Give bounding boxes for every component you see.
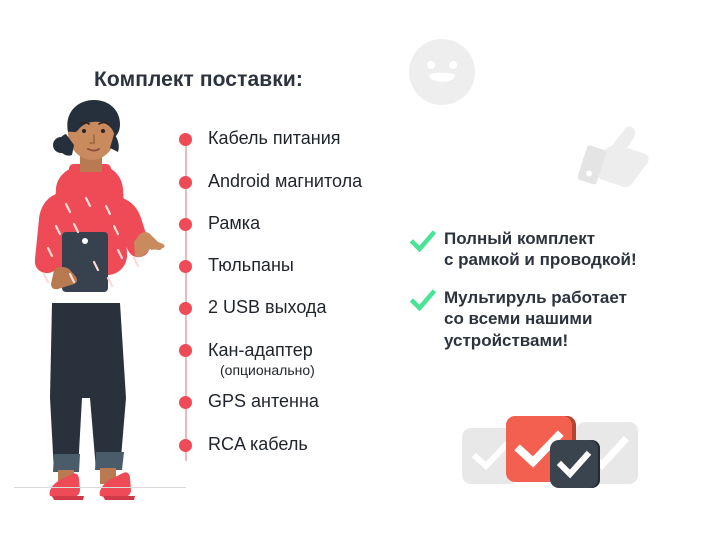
list-item-label: Android магнитола — [208, 171, 362, 192]
bullet-dot-icon — [179, 133, 192, 146]
page-title: Комплект поставки: — [94, 68, 303, 92]
bullet-dot-icon — [179, 260, 192, 273]
checkbox-tiles-icon — [462, 410, 632, 486]
benefit-label: Мультируль работает со всеми нашими устр… — [410, 287, 710, 351]
smiley-face-icon — [408, 38, 476, 106]
benefit-item: Полный комплект с рамкой и проводкой! — [410, 228, 710, 271]
ground-line — [14, 487, 186, 488]
bullet-dot-icon — [179, 439, 192, 452]
avito-watermark: Avito — [620, 500, 712, 530]
list-item-label: Тюльпаны — [208, 255, 294, 276]
woman-illustration — [8, 98, 178, 508]
benefits-block: Полный комплект с рамкой и проводкой! Му… — [410, 228, 710, 367]
list-item-label: Рамка — [208, 213, 260, 234]
checkbox-tile-dark — [550, 440, 598, 488]
benefit-item: Мультируль работает со всеми нашими устр… — [410, 287, 710, 351]
list-item-label: Кабель питания — [208, 128, 341, 149]
list-item-label: RCA кабель — [208, 434, 308, 455]
thumbs-up-icon — [578, 115, 660, 203]
list-item-label: 2 USB выхода — [208, 297, 326, 318]
bullet-dot-icon — [179, 218, 192, 231]
green-check-icon — [410, 229, 436, 255]
avito-wordmark: Avito — [649, 503, 711, 530]
green-check-icon — [410, 288, 436, 314]
bullet-dot-icon — [179, 176, 192, 189]
bullet-dot-icon — [179, 302, 192, 315]
benefit-label: Полный комплект с рамкой и проводкой! — [410, 228, 710, 271]
list-item-label: Кан-адаптер(опционально) — [208, 340, 315, 379]
list-item-sublabel: (опционально) — [208, 362, 315, 379]
list-item-label: GPS антенна — [208, 391, 319, 412]
bullet-dot-icon — [179, 396, 192, 409]
bullet-dot-icon — [179, 344, 192, 357]
promo-image: Комплект поставки: Кабель питания Androi… — [0, 0, 720, 540]
